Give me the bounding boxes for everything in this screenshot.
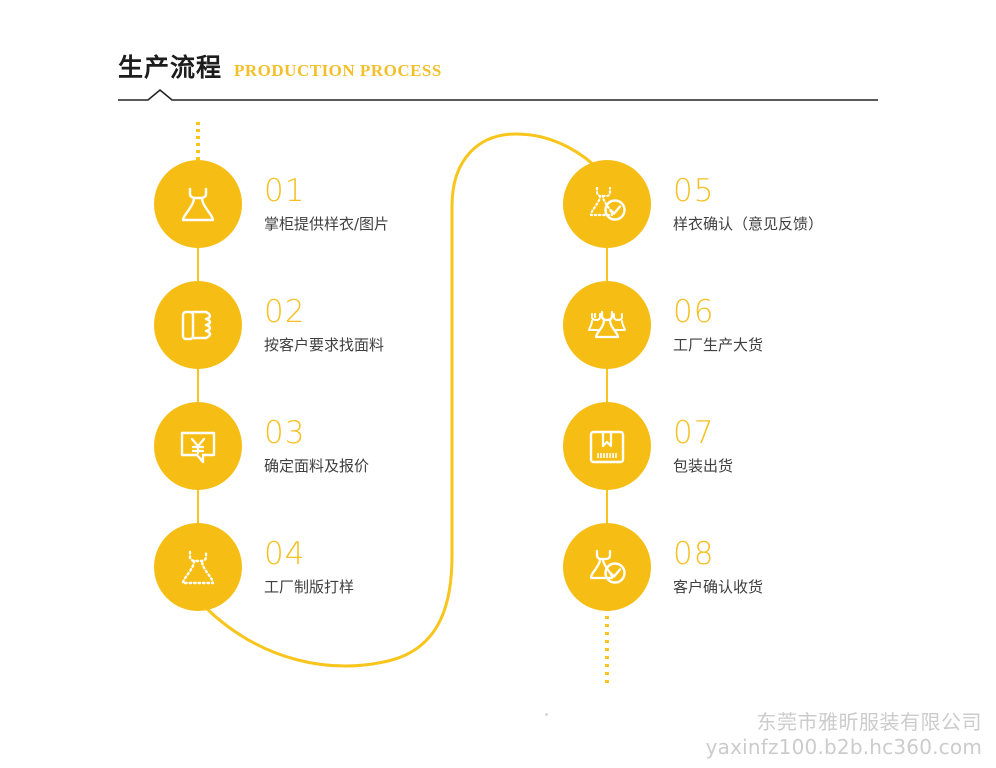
- flow-step-08-number: 08: [673, 538, 763, 571]
- watermark-company-name: 东莞市雅昕服装有限公司: [706, 710, 982, 735]
- dotted-dress-icon: [172, 541, 224, 593]
- flow-step-01-label: 掌柜提供样衣/图片: [264, 215, 389, 233]
- dotted-dress-check-icon: [581, 178, 633, 230]
- flow-connector-lines: [0, 0, 996, 768]
- flow-step-02-badge[interactable]: [154, 281, 242, 369]
- flow-step-03[interactable]: 03 确定面料及报价: [154, 402, 369, 490]
- section-header: 生产流程 PRODUCTION PROCESS: [118, 48, 878, 100]
- flow-step-03-number: 03: [264, 417, 369, 450]
- flow-step-06-label: 工厂生产大货: [673, 336, 763, 354]
- yen-quote-bubble-icon: [172, 420, 224, 472]
- fabric-roll-icon: [172, 299, 224, 351]
- flow-step-08-label: 客户确认收货: [673, 578, 763, 596]
- header-rule-icon: [118, 88, 878, 102]
- page-subtitle: PRODUCTION PROCESS: [234, 61, 442, 81]
- flow-step-02-number: 02: [264, 296, 384, 329]
- package-box-icon: [581, 420, 633, 472]
- flow-step-02-text: 02 按客户要求找面料: [264, 296, 384, 354]
- watermark: 东莞市雅昕服装有限公司 yaxinfz100.b2b.hc360.com: [706, 710, 982, 760]
- flow-step-02[interactable]: 02 按客户要求找面料: [154, 281, 384, 369]
- flow-step-01-text: 01 掌柜提供样衣/图片: [264, 175, 389, 233]
- flow-step-06-badge[interactable]: [563, 281, 651, 369]
- header-title-group: 生产流程 PRODUCTION PROCESS: [118, 48, 878, 82]
- flow-step-07[interactable]: 07 包装出货: [563, 402, 733, 490]
- flow-step-05-number: 05: [673, 175, 823, 208]
- flow-step-02-label: 按客户要求找面料: [264, 336, 384, 354]
- flow-step-05-label: 样衣确认（意见反馈）: [673, 215, 823, 233]
- dress-check-icon: [581, 541, 633, 593]
- flow-step-07-label: 包装出货: [673, 457, 733, 475]
- flow-step-05-badge[interactable]: [563, 160, 651, 248]
- flow-step-04-text: 04 工厂制版打样: [264, 538, 354, 596]
- flow-step-08[interactable]: 08 客户确认收货: [563, 523, 763, 611]
- flow-step-01-badge[interactable]: [154, 160, 242, 248]
- flow-step-07-badge[interactable]: [563, 402, 651, 490]
- page-title: 生产流程: [118, 48, 222, 84]
- flow-step-04-number: 04: [264, 538, 354, 571]
- flow-step-08-badge[interactable]: [563, 523, 651, 611]
- watermark-url: yaxinfz100.b2b.hc360.com: [706, 735, 982, 760]
- dress-icon: [172, 178, 224, 230]
- flow-step-03-text: 03 确定面料及报价: [264, 417, 369, 475]
- flow-step-04-badge[interactable]: [154, 523, 242, 611]
- stray-dot: [545, 713, 548, 716]
- flow-step-01-number: 01: [264, 175, 389, 208]
- stacked-dresses-icon: [581, 299, 633, 351]
- flow-step-04[interactable]: 04 工厂制版打样: [154, 523, 354, 611]
- flow-step-03-badge[interactable]: [154, 402, 242, 490]
- flow-step-01[interactable]: 01 掌柜提供样衣/图片: [154, 160, 389, 248]
- flow-step-05[interactable]: 05 样衣确认（意见反馈）: [563, 160, 823, 248]
- flow-step-07-number: 07: [673, 417, 733, 450]
- flow-step-03-label: 确定面料及报价: [264, 457, 369, 475]
- flow-step-04-label: 工厂制版打样: [264, 578, 354, 596]
- flow-step-06-text: 06 工厂生产大货: [673, 296, 763, 354]
- flow-step-06[interactable]: 06 工厂生产大货: [563, 281, 763, 369]
- flow-step-05-text: 05 样衣确认（意见反馈）: [673, 175, 823, 233]
- flow-step-07-text: 07 包装出货: [673, 417, 733, 475]
- flow-step-08-text: 08 客户确认收货: [673, 538, 763, 596]
- flow-step-06-number: 06: [673, 296, 763, 329]
